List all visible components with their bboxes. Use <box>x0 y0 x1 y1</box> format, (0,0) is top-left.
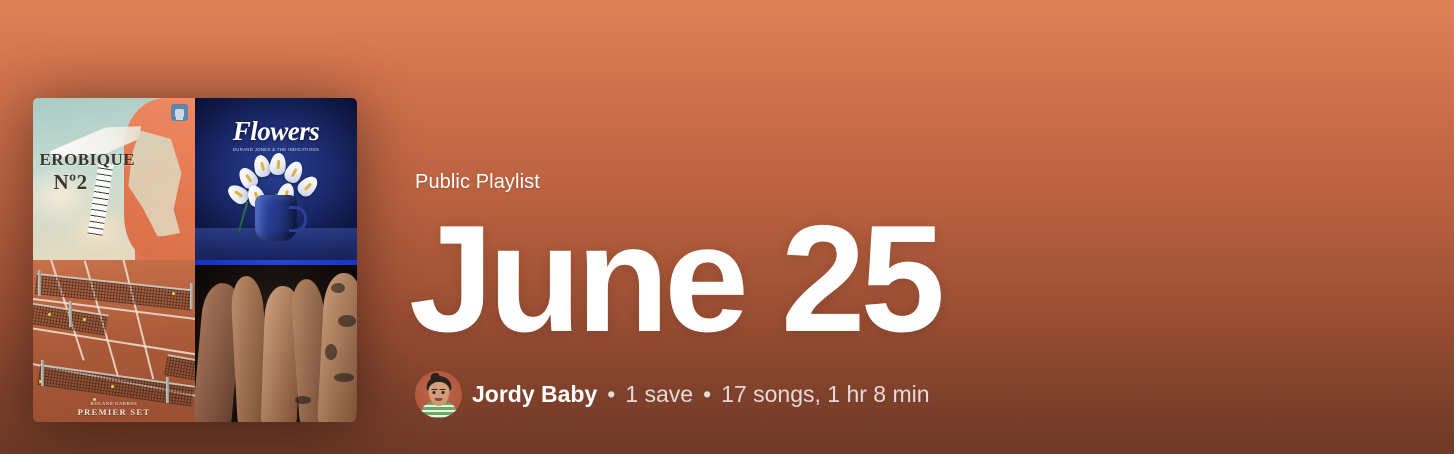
playlist-owner-link[interactable]: Jordy Baby <box>472 381 597 408</box>
avatar-mouth <box>435 398 443 401</box>
leg-shape <box>317 272 357 422</box>
court-line <box>121 260 154 379</box>
playlist-song-count-duration: 17 songs, 1 hr 8 min <box>721 381 929 408</box>
tattoo-mark <box>338 315 356 327</box>
net-post <box>69 301 72 327</box>
erobique-title-line: Nº2 <box>53 171 135 193</box>
legs-blue-bar <box>195 260 357 265</box>
playlist-saves-count: 1 save <box>625 381 693 408</box>
net-post <box>166 377 169 403</box>
tattoo-mark <box>331 283 345 293</box>
playlist-meta-row: Jordy Baby • 1 save • 17 songs, 1 hr 8 m… <box>415 371 1454 418</box>
playlist-type-label: Public Playlist <box>415 171 1454 194</box>
avatar-eyebrow-right <box>440 389 446 391</box>
meta-separator: • <box>702 381 712 408</box>
erobique-artist-line: EROBIQUE <box>39 150 135 169</box>
erobique-label-badge-icon <box>171 104 188 121</box>
tennis-ball <box>111 385 114 388</box>
album-art-legs <box>195 260 357 422</box>
erobique-album-text: EROBIQUE Nº2 <box>39 151 135 193</box>
playlist-header-banner: EROBIQUE Nº2 Flowers DURAND JONES & THE … <box>0 0 1454 454</box>
avatar-eye-right <box>441 391 444 394</box>
tennis-net <box>35 273 192 310</box>
avatar-eye-left <box>433 391 436 394</box>
playlist-info-column: Public Playlist June 25 Jordy Baby • 1 s… <box>357 171 1454 422</box>
album-art-premier-set: ROLAND GARROS PREMIER SET <box>33 260 195 422</box>
net-post <box>190 283 193 309</box>
playlist-cover-art[interactable]: EROBIQUE Nº2 Flowers DURAND JONES & THE … <box>33 98 357 422</box>
premier-set-caption: ROLAND GARROS PREMIER SET <box>33 401 195 417</box>
avatar-eyebrow-left <box>431 389 437 391</box>
avatar[interactable] <box>415 371 462 418</box>
page-title: June 25 <box>409 202 1454 357</box>
flowers-vase <box>255 195 297 241</box>
album-art-erobique: EROBIQUE Nº2 <box>33 98 195 260</box>
meta-separator: • <box>606 381 616 408</box>
tattoo-mark <box>325 344 337 360</box>
flowers-subtitle-line: DURAND JONES & THE INDICATIONS <box>195 147 357 152</box>
flowers-title-line: Flowers <box>195 116 357 147</box>
premier-set-title: PREMIER SET <box>78 407 151 417</box>
net-post <box>38 270 41 296</box>
album-art-flowers: Flowers DURAND JONES & THE INDICATIONS <box>195 98 357 260</box>
premier-set-subtitle: ROLAND GARROS <box>33 401 195 406</box>
